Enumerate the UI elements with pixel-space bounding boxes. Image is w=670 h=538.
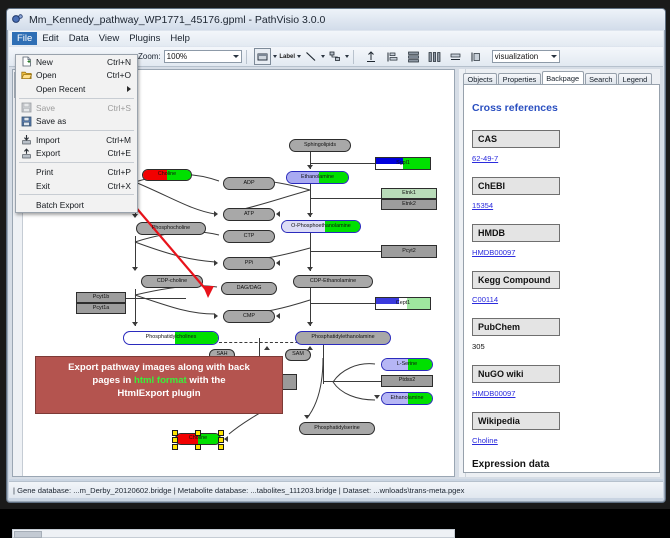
status-bar: | Gene database: ...m_Derby_20120602.bri… (9, 481, 663, 498)
tab-label: Search (589, 75, 612, 84)
node-ctp[interactable]: CTP (223, 230, 275, 243)
node-label: Cept1 (396, 301, 410, 306)
tab-backpage[interactable]: Backpage (542, 71, 584, 85)
selection-handle-se[interactable] (218, 444, 224, 450)
xref-label-nugo-wiki: NuGO wiki (472, 365, 560, 383)
menu-edit[interactable]: Edit (37, 32, 63, 45)
node-label: Pcyt1a (93, 306, 109, 311)
selection-handle-sw[interactable] (172, 444, 178, 450)
annotation-line-2-post: with the (187, 375, 226, 386)
common-width-button[interactable] (448, 49, 463, 64)
node-choline[interactable]: Choline (142, 169, 192, 181)
side-panel: Objects Properties Backpage Search Legen… (459, 69, 660, 477)
side-panel-tabs: Objects Properties Backpage Search Legen… (463, 71, 660, 85)
node-label: CDP-choline (157, 279, 187, 284)
node-label: CTP (244, 234, 255, 239)
menu-item-open-recent[interactable]: Open Recent (16, 82, 137, 96)
menu-item-batch-export[interactable]: Batch Export (16, 197, 137, 212)
xref-value-kegg-compound[interactable]: C00114 (472, 295, 653, 304)
node-label: Choline (189, 436, 207, 441)
canvas-hscroll-thumb[interactable] (14, 531, 42, 538)
node-label: CMP (243, 314, 255, 319)
arrowhead-right-ppi (214, 260, 218, 266)
backpage-panel: Cross references CAS 62-49-7 ChEBI 15354… (463, 84, 660, 473)
toolbar-divider-2 (353, 50, 354, 64)
node-pcyt2[interactable]: Pcyt2 (381, 245, 437, 258)
node-pcyt1b[interactable]: Pcyt1b (76, 292, 126, 303)
node-label: SAH (216, 352, 227, 357)
xref-label-chebi: ChEBI (472, 177, 560, 195)
node-label: L-Serine (397, 362, 417, 367)
node-label: Phosphatidylserine (314, 426, 360, 431)
node-cmp[interactable]: CMP (223, 310, 275, 323)
menu-view[interactable]: View (94, 32, 124, 45)
chevron-down-icon-2 (551, 55, 557, 58)
node-pcyt1a[interactable]: Pcyt1a (76, 303, 126, 314)
node-dag[interactable]: DAG/DAG (221, 282, 277, 295)
node-label: PPi (245, 261, 253, 266)
screenshot-root: Mm_Kennedy_pathway_WP1771_45176.gpml - P… (0, 0, 670, 509)
pathvisio-app-icon (11, 13, 24, 26)
xref-label-cas: CAS (472, 130, 560, 148)
menu-item-accel: Ctrl+M (106, 135, 137, 145)
xref-value-chebi[interactable]: 15354 (472, 201, 653, 210)
interaction-tool-button[interactable] (328, 49, 343, 64)
node-label: Pcyt2 (402, 249, 415, 254)
arrowhead-left-cmp (276, 313, 280, 319)
menu-item-open[interactable]: Open Ctrl+O (16, 69, 137, 83)
distribute-vertical-button[interactable] (406, 49, 421, 64)
zoom-value: 100% (167, 52, 187, 61)
menu-item-exit[interactable]: Exit Ctrl+X (16, 179, 137, 193)
annotation-callout: Export pathway images along with back pa… (35, 356, 283, 414)
node-fill-q2 (407, 298, 430, 309)
status-text: | Gene database: ...m_Derby_20120602.bri… (9, 486, 464, 495)
zoom-label: Zoom: (138, 52, 161, 61)
node-sphingolipids[interactable]: Sphingolipids (289, 139, 351, 152)
node-cept1[interactable]: Cept1 (375, 297, 431, 310)
node-label: Ethanolamine (391, 396, 424, 401)
tab-label: Backpage (546, 74, 579, 83)
line-tool-button[interactable] (304, 49, 319, 64)
menu-item-label: Save (36, 103, 107, 113)
menu-separator-2 (19, 130, 134, 131)
menu-item-accel: Ctrl+P (107, 167, 137, 177)
xref-value-hmdb[interactable]: HMDB00097 (472, 248, 653, 257)
title-bar: Mm_Kennedy_pathway_WP1771_45176.gpml - P… (7, 9, 665, 30)
menu-item-save: Save Ctrl+S (16, 101, 137, 115)
label-tool-button[interactable]: Label (280, 49, 295, 64)
menu-item-label: Open (36, 70, 107, 80)
backpage-heading: Cross references (472, 102, 653, 114)
node-label: ATP (244, 212, 254, 217)
visualization-select[interactable]: visualization (492, 50, 560, 63)
canvas-horizontal-scrollbar[interactable] (12, 529, 455, 538)
annotation-line-2-pre: pages in (92, 375, 134, 386)
node-label: Sphingolipids (304, 143, 336, 148)
node-choline-selected[interactable]: Choline (175, 433, 221, 445)
xref-label-kegg-compound: Kegg Compound (472, 271, 560, 289)
import-icon (16, 134, 36, 145)
save-as-icon (16, 116, 36, 127)
node-label: Pcyt1b (93, 295, 109, 300)
menu-item-save-as[interactable]: Save as (16, 114, 137, 128)
shape-tool-button[interactable] (254, 48, 271, 65)
expression-data-heading: Expression data (472, 459, 653, 470)
annotation-line-3: HtmlExport plugin (42, 387, 276, 400)
xref-value-nugo-wiki[interactable]: HMDB00097 (472, 389, 653, 398)
align-top-button[interactable] (364, 49, 379, 64)
selection-handle-w[interactable] (172, 437, 178, 443)
node-phosphatidylcholines[interactable]: Phosphatidylcholines (123, 331, 219, 345)
node-label: SAM (292, 352, 304, 357)
arrowhead-left-ppi (276, 260, 280, 266)
node-sam[interactable]: SAM (285, 349, 311, 361)
node-l-serine[interactable]: L-Serine (381, 358, 433, 371)
common-height-button[interactable] (469, 49, 484, 64)
menu-item-label: Import (36, 135, 106, 145)
arrowhead-right-atp (214, 211, 218, 217)
enzyme-stub-etnk (310, 198, 382, 199)
node-label: Ethanolamine (301, 175, 334, 180)
xref-label-wikipedia: Wikipedia (472, 412, 560, 430)
xref-label-hmdb: HMDB (472, 224, 560, 242)
node-etnk1[interactable]: Etnk1 (381, 188, 437, 199)
node-atp[interactable]: ATP (223, 208, 275, 221)
xref-value-pubchem: 305 (472, 342, 653, 351)
label-tool-chevron-icon[interactable] (297, 55, 301, 58)
menu-item-accel: Ctrl+N (107, 57, 137, 67)
window-title: Mm_Kennedy_pathway_WP1771_45176.gpml - P… (29, 14, 325, 26)
node-label: Choline (158, 172, 176, 177)
node-cdp-choline[interactable]: CDP-choline (141, 275, 203, 288)
arrowhead-left-atp (276, 211, 280, 217)
xref-label-pubchem: PubChem (472, 318, 560, 336)
annotation-line-2: pages in html format with the (42, 374, 276, 387)
menu-item-new[interactable]: New Ctrl+N (16, 55, 137, 69)
menu-separator-4 (19, 194, 134, 195)
application-window: Mm_Kennedy_pathway_WP1771_45176.gpml - P… (6, 8, 666, 503)
backpage-content: Cross references CAS 62-49-7 ChEBI 15354… (472, 85, 653, 472)
node-ethanolamine-2[interactable]: Ethanolamine (381, 392, 433, 405)
line-tool-chevron-icon[interactable] (321, 55, 325, 58)
node-ethanolamine[interactable]: Ethanolamine (286, 171, 349, 184)
node-phosphatidylserine[interactable]: Phosphatidylserine (299, 422, 375, 435)
node-ppi[interactable]: PPi (223, 257, 275, 270)
node-ptdss2[interactable]: Ptdss2 (381, 375, 433, 387)
menu-item-accel: Ctrl+O (107, 70, 137, 80)
node-cdp-ethanolamine[interactable]: CDP-Ethanolamine (293, 275, 373, 288)
menu-item-accel: Ctrl+S (107, 103, 137, 113)
menu-item-label: Exit (36, 181, 107, 191)
tab-label: Legend (623, 75, 648, 84)
node-phosphatidylethanolamine[interactable]: Phosphatidylethanolamine (295, 331, 391, 345)
enzyme-stub-pcyt2 (310, 251, 382, 252)
enzyme-stub-cept1 (310, 303, 376, 304)
save-disk-icon (16, 102, 36, 113)
enzyme-stub-sgpl1 (310, 163, 376, 164)
submenu-arrow-icon (127, 86, 131, 92)
new-file-icon (16, 56, 36, 67)
toolbar-divider (246, 50, 247, 64)
menu-item-label: Batch Export (36, 200, 137, 210)
node-label: DAG/DAG (237, 286, 262, 291)
chevron-down-icon (233, 55, 239, 58)
node-adp[interactable]: ADP (223, 177, 275, 190)
node-label: Etnk2 (402, 202, 416, 207)
zoom-select[interactable]: 100% (164, 50, 242, 63)
open-folder-icon (16, 70, 36, 80)
enzyme-stub-ptdss2 (323, 381, 381, 382)
interaction-tool-chevron-icon[interactable] (345, 55, 349, 58)
menu-separator-1 (19, 98, 134, 99)
node-label: ADP (243, 181, 254, 186)
arrowhead-ptdserine (304, 415, 310, 419)
menu-item-label: Save as (36, 116, 131, 126)
menu-item-label: Print (36, 167, 107, 177)
shape-tool-chevron-icon[interactable] (273, 55, 277, 58)
node-label: Etnk1 (402, 191, 416, 196)
xref-value-cas[interactable]: 62-49-7 (472, 154, 653, 163)
menu-separator-3 (19, 162, 134, 163)
visualization-value: visualization (495, 52, 539, 61)
menu-item-label: Export (36, 148, 107, 158)
export-icon (16, 148, 36, 159)
menu-item-export[interactable]: Export Ctrl+E (16, 147, 137, 161)
menu-item-accel: Ctrl+X (107, 181, 137, 191)
menu-help[interactable]: Help (165, 32, 195, 45)
menu-item-label: Open Recent (36, 84, 127, 94)
node-sgpl1[interactable]: Sgpl1 (375, 157, 431, 170)
node-label: Phosphatidylcholines (146, 335, 197, 340)
annotation-line-1: Export pathway images along with back (42, 361, 276, 374)
align-left-button[interactable] (385, 49, 400, 64)
tab-label: Properties (503, 75, 537, 84)
arrowhead-right-cmp (214, 313, 218, 319)
node-label: CDP-Ethanolamine (310, 279, 356, 284)
node-o-phosphoethanolamine[interactable]: O-Phosphoethanolamine (281, 220, 361, 233)
annotation-highlight: html format (134, 375, 187, 386)
tab-label: Objects (468, 75, 493, 84)
arrowhead-etn-out (374, 395, 380, 399)
menu-plugins[interactable]: Plugins (124, 32, 165, 45)
node-etnk2[interactable]: Etnk2 (381, 199, 437, 210)
file-menu-popup[interactable]: New Ctrl+N Open Ctrl+O Open Recent Save … (15, 54, 138, 213)
node-label: Sgpl1 (396, 161, 410, 166)
node-label: Phosphocholine (152, 226, 190, 231)
menu-file[interactable]: File (12, 32, 37, 45)
selection-handle-nw[interactable] (172, 430, 178, 436)
menu-item-import[interactable]: Import Ctrl+M (16, 133, 137, 147)
arrowhead-up-ptdetn-2 (264, 346, 270, 350)
node-phosphocholine[interactable]: Phosphocholine (136, 222, 206, 235)
label-tool-text: Label (279, 54, 295, 60)
enzyme-stub-pcyt1 (126, 298, 186, 299)
xref-value-wikipedia[interactable]: Choline (472, 436, 653, 445)
selection-handle-s[interactable] (195, 444, 201, 450)
node-label: Ptdss2 (399, 378, 415, 383)
menu-item-label: New (36, 57, 107, 67)
menu-bar: File Edit Data View Plugins Help (9, 31, 663, 46)
menu-item-print[interactable]: Print Ctrl+P (16, 165, 137, 179)
menu-item-accel: Ctrl+E (107, 148, 137, 158)
reaction-node-square[interactable] (281, 374, 297, 390)
distribute-horizontal-button[interactable] (427, 49, 442, 64)
menu-data[interactable]: Data (64, 32, 94, 45)
node-label: O-Phosphoethanolamine (291, 224, 351, 229)
node-label: Phosphatidylethanolamine (311, 335, 374, 340)
